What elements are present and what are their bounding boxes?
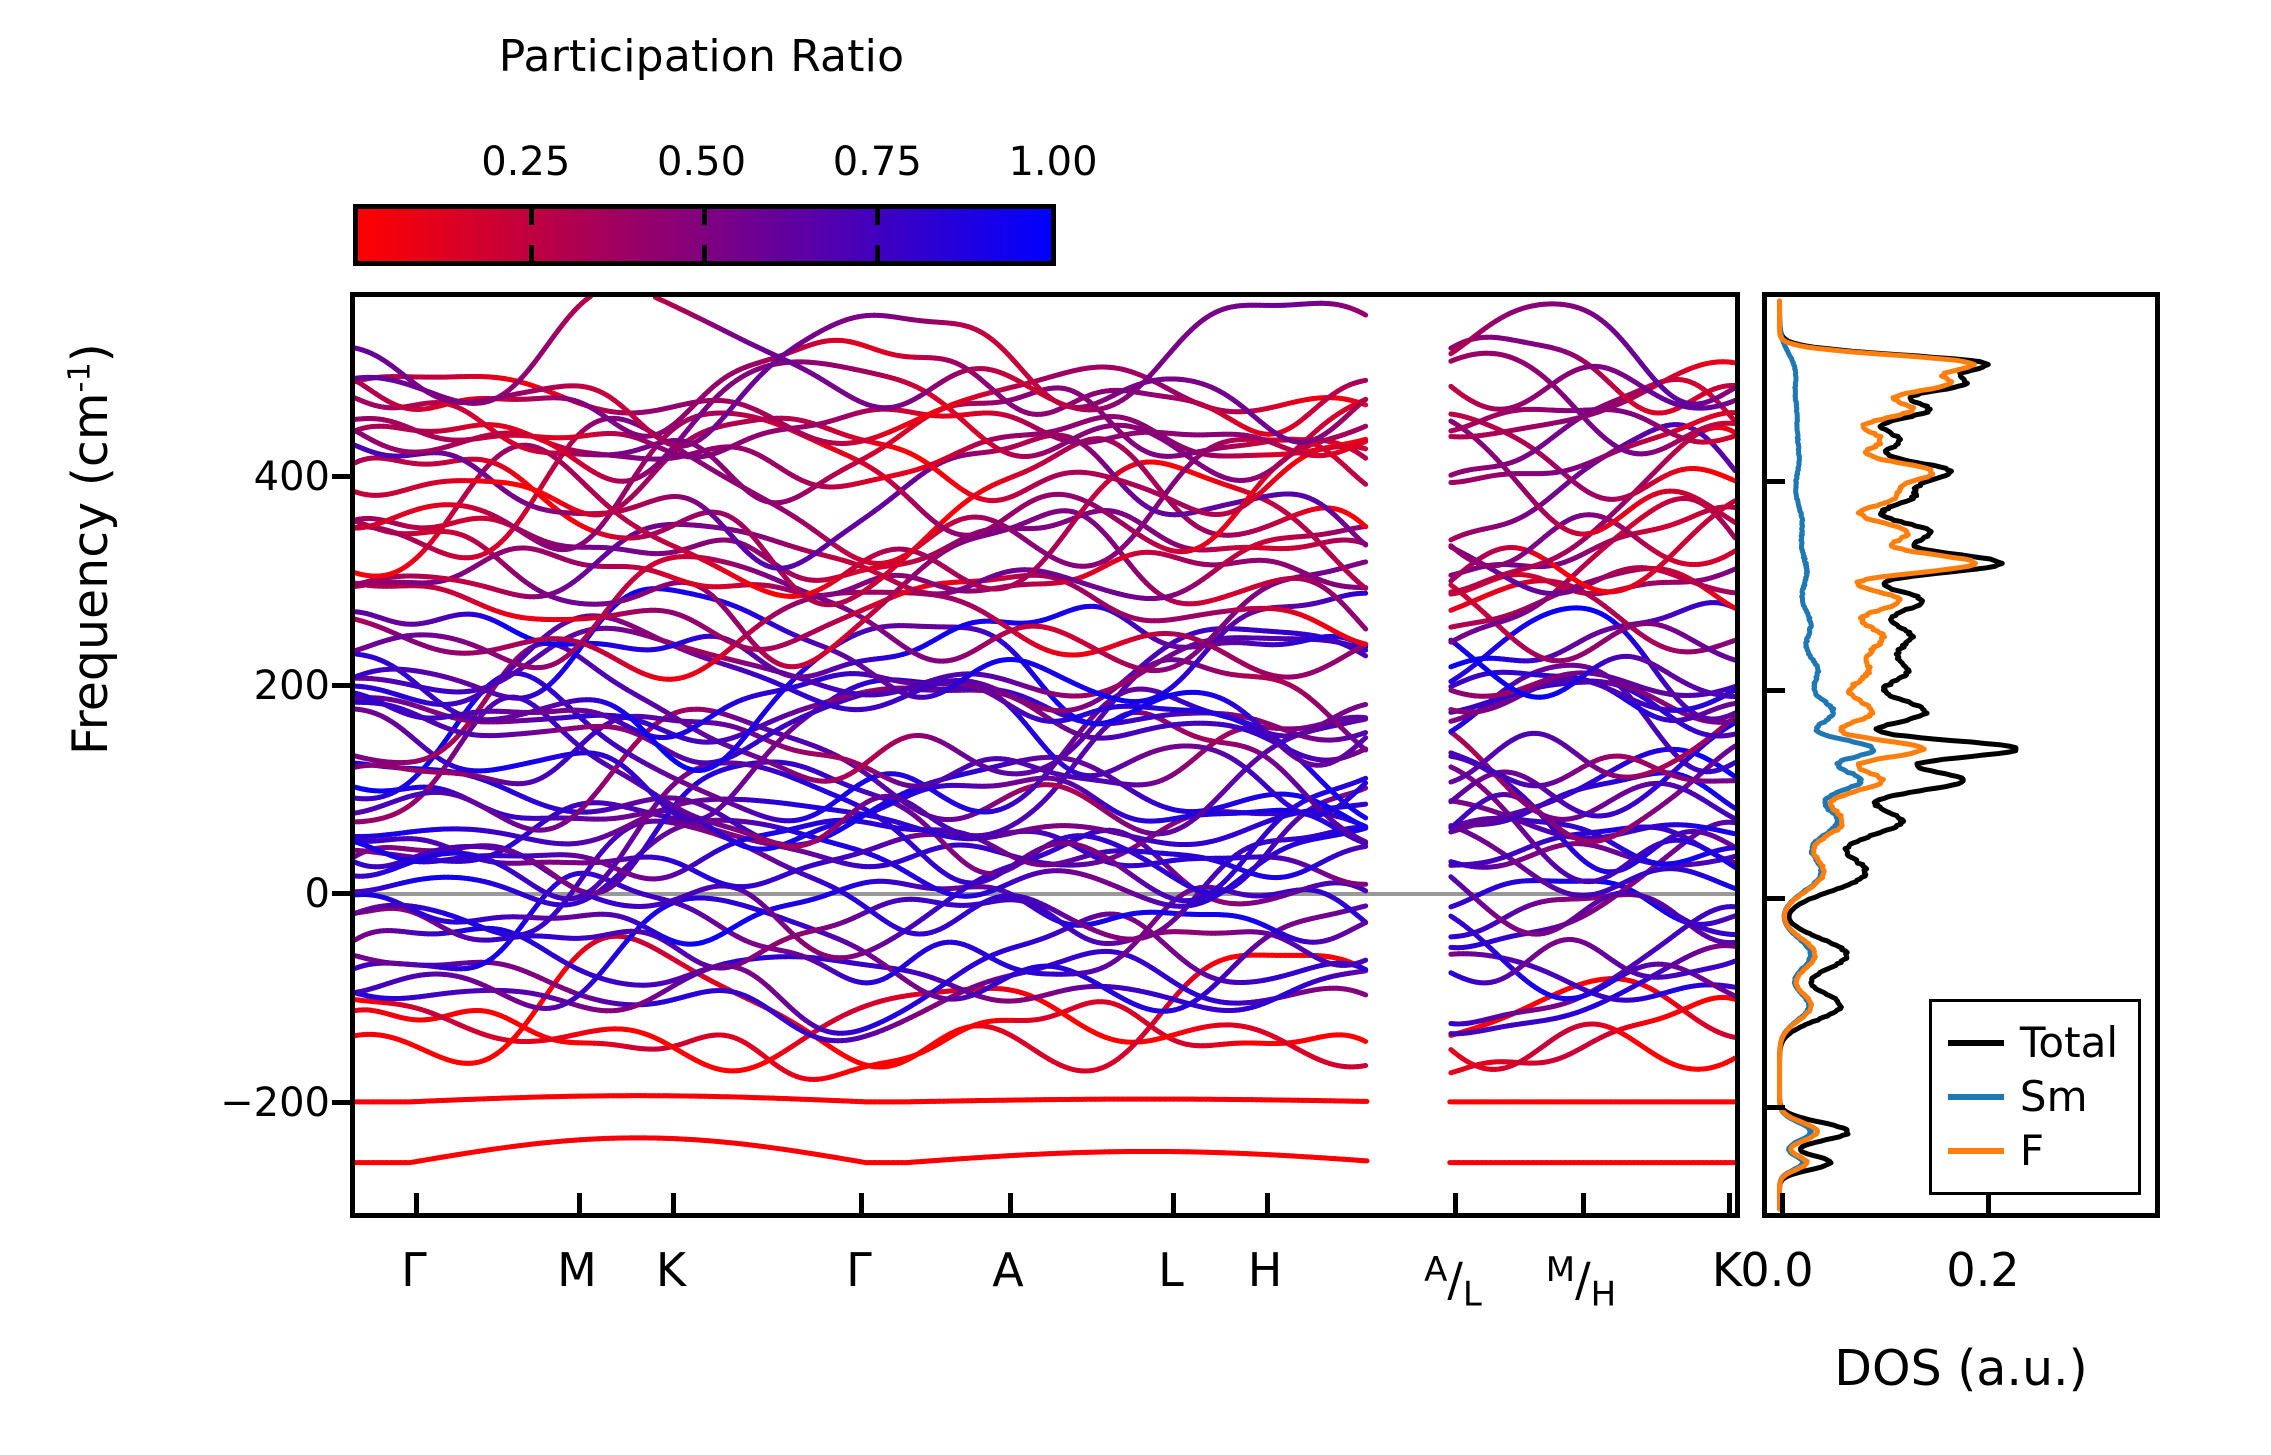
dos-legend[interactable]: Total Sm F bbox=[1929, 999, 2141, 1195]
band-ylabel-tail: ) bbox=[62, 343, 119, 362]
legend-swatch-sm-icon bbox=[1948, 1094, 2004, 1100]
band-xtick-label-h: H bbox=[1248, 1245, 1283, 1295]
frac-numerator-m: M bbox=[1546, 1250, 1575, 1290]
frac-slash-1: / bbox=[1447, 1252, 1463, 1306]
legend-label-total: Total bbox=[2020, 1022, 2118, 1064]
band-xtick-mark-4 bbox=[1008, 1193, 1013, 1213]
figure-canvas: Participation Ratio 0.25 0.50 0.75 1.00 … bbox=[0, 0, 2271, 1455]
band-xtick-mark-3 bbox=[859, 1193, 864, 1213]
colorbar-tick-label-3: 1.00 bbox=[1008, 140, 1097, 184]
dos-ytick-mark-400 bbox=[1767, 479, 1785, 484]
band-ytick-mark-0 bbox=[332, 891, 350, 896]
colorbar-tick-mark-2-bottom bbox=[875, 245, 880, 261]
colorbar-tick-label-1: 0.50 bbox=[657, 140, 746, 184]
band-ytick-mark-m200 bbox=[332, 1100, 350, 1105]
band-xtick-label-k-2: K bbox=[1712, 1245, 1742, 1295]
colorbar-tick-mark-0-top bbox=[529, 209, 534, 225]
band-ylabel: Frequency (cm-1) bbox=[62, 343, 119, 755]
legend-swatch-f-icon bbox=[1948, 1148, 2004, 1154]
dos-xtick-mark-0 bbox=[1780, 1193, 1785, 1213]
band-xtick-label-a: A bbox=[992, 1245, 1023, 1295]
dos-xtick-label-0: 0.0 bbox=[1740, 1245, 1813, 1295]
legend-item-f[interactable]: F bbox=[1948, 1124, 2118, 1178]
band-ytick-label-400: 400 bbox=[254, 455, 330, 499]
colorbar-tick-label-2: 0.75 bbox=[833, 140, 922, 184]
band-xtick-mark-0 bbox=[414, 1193, 419, 1213]
colorbar-tick-mark-2-top bbox=[875, 209, 880, 225]
band-structure-svg bbox=[355, 297, 1735, 1213]
band-ytick-label-m200: −200 bbox=[220, 1081, 330, 1125]
legend-label-sm: Sm bbox=[2020, 1076, 2088, 1118]
band-xtick-mark-2 bbox=[671, 1193, 676, 1213]
band-xtick-mark-6 bbox=[1265, 1193, 1270, 1213]
band-xtick-label-l: L bbox=[1158, 1245, 1184, 1295]
legend-item-sm[interactable]: Sm bbox=[1948, 1070, 2118, 1124]
colorbar-tick-labels: 0.25 0.50 0.75 1.00 bbox=[350, 140, 1053, 190]
band-xtick-label-gamma-2: Γ bbox=[846, 1245, 872, 1295]
band-xtick-label-a-over-l: A/L bbox=[1424, 1245, 1482, 1319]
band-xtick-mark-8 bbox=[1581, 1193, 1586, 1213]
band-ytick-label-0: 0 bbox=[305, 872, 330, 916]
colorbar-title: Participation Ratio bbox=[350, 30, 1053, 84]
colorbar-tick-mark-1-bottom bbox=[702, 245, 707, 261]
dos-xlabel: DOS (a.u.) bbox=[1834, 1340, 2087, 1397]
legend-label-f: F bbox=[2020, 1130, 2044, 1172]
phonon-dos-plot[interactable]: Total Sm F bbox=[1762, 292, 2160, 1218]
colorbar-tick-mark-0-bottom bbox=[529, 245, 534, 261]
band-ytick-mark-400 bbox=[332, 474, 350, 479]
dos-xtick-label-1: 0.2 bbox=[1946, 1245, 2019, 1295]
dos-ytick-mark-200 bbox=[1767, 688, 1785, 693]
band-xtick-label-m-over-h: M/H bbox=[1546, 1245, 1616, 1319]
band-xtick-label-m-1: M bbox=[557, 1245, 597, 1295]
legend-swatch-total-icon bbox=[1948, 1040, 2004, 1046]
band-ylabel-text: Frequency (cm bbox=[62, 393, 119, 756]
band-ylabel-superscript: -1 bbox=[63, 362, 98, 392]
band-xtick-mark-7 bbox=[1453, 1193, 1458, 1213]
dos-ytick-mark-0 bbox=[1767, 896, 1785, 901]
band-xtick-label-gamma-1: Γ bbox=[401, 1245, 427, 1295]
colorbar-gradient[interactable] bbox=[353, 204, 1056, 266]
band-xtick-mark-5 bbox=[1171, 1193, 1176, 1213]
band-xtick-label-k-1: K bbox=[656, 1245, 686, 1295]
legend-item-total[interactable]: Total bbox=[1948, 1016, 2118, 1070]
frac-numerator-a: A bbox=[1424, 1250, 1447, 1290]
dos-ytick-mark-m200 bbox=[1767, 1105, 1785, 1110]
phonon-band-structure-plot[interactable] bbox=[350, 292, 1740, 1218]
band-xtick-mark-9 bbox=[1727, 1193, 1732, 1213]
band-xtick-mark-1 bbox=[577, 1193, 582, 1213]
dos-xtick-mark-1 bbox=[1986, 1193, 1991, 1213]
frac-slash-2: / bbox=[1575, 1252, 1591, 1306]
band-ytick-mark-200 bbox=[332, 683, 350, 688]
frac-denominator-l: L bbox=[1463, 1274, 1482, 1314]
band-ytick-label-200: 200 bbox=[254, 664, 330, 708]
colorbar-tick-mark-1-top bbox=[702, 209, 707, 225]
frac-denominator-h: H bbox=[1591, 1274, 1617, 1314]
colorbar-group: Participation Ratio 0.25 0.50 0.75 1.00 bbox=[350, 30, 1053, 265]
colorbar-tick-label-0: 0.25 bbox=[481, 140, 570, 184]
